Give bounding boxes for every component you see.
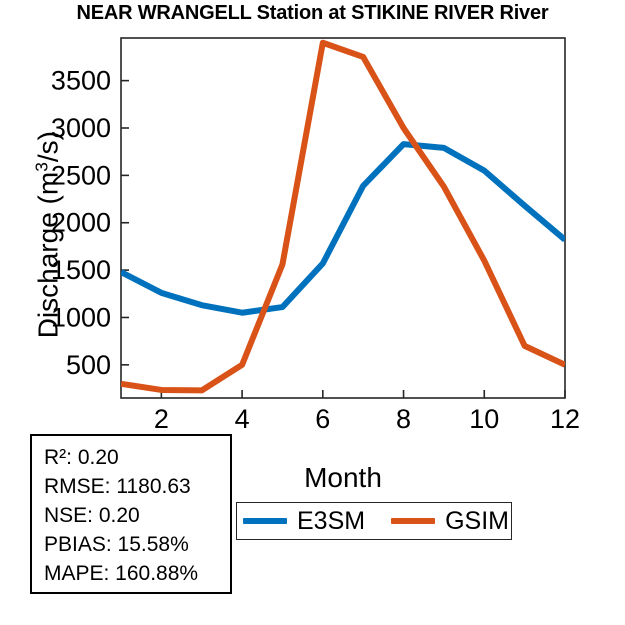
x-tick-label: 4 — [235, 404, 250, 434]
x-tick-label: 8 — [396, 404, 411, 434]
stat-nse: NSE: 0.20 — [44, 501, 230, 530]
legend-label-gsim: GSIM — [445, 509, 509, 534]
legend-item-gsim[interactable]: GSIM — [391, 509, 509, 534]
y-tick-label: 500 — [66, 350, 111, 380]
x-tick-label: 6 — [315, 404, 330, 434]
axes-frame — [121, 38, 565, 398]
chart-legend[interactable]: E3SM GSIM — [236, 502, 512, 540]
stat-r2: R²: 0.20 — [44, 443, 230, 472]
x-tick-label: 12 — [550, 404, 580, 434]
statistics-box: R²: 0.20 RMSE: 1180.63 NSE: 0.20 PBIAS: … — [30, 434, 232, 594]
stat-pbias: PBIAS: 15.58% — [44, 530, 230, 559]
legend-label-e3sm: E3SM — [297, 509, 365, 534]
y-axis-title-tail: /s) — [33, 131, 64, 162]
legend-swatch-e3sm-icon — [243, 518, 287, 524]
chart-figure: NEAR WRANGELL Station at STIKINE RIVER R… — [0, 0, 625, 625]
stat-mape: MAPE: 160.88% — [44, 559, 230, 588]
legend-item-e3sm[interactable]: E3SM — [243, 509, 365, 534]
y-axis-title-exponent: 3 — [31, 162, 51, 172]
y-axis-title-base: Discharge (m — [33, 172, 64, 338]
y-axis-title: Discharge (m3/s) — [31, 55, 64, 415]
x-tick-label: 2 — [154, 404, 169, 434]
x-axis-tick-labels: 24681012 — [154, 404, 580, 434]
legend-swatch-gsim-icon — [391, 518, 435, 524]
stat-rmse: RMSE: 1180.63 — [44, 472, 230, 501]
x-tick-label: 10 — [469, 404, 499, 434]
